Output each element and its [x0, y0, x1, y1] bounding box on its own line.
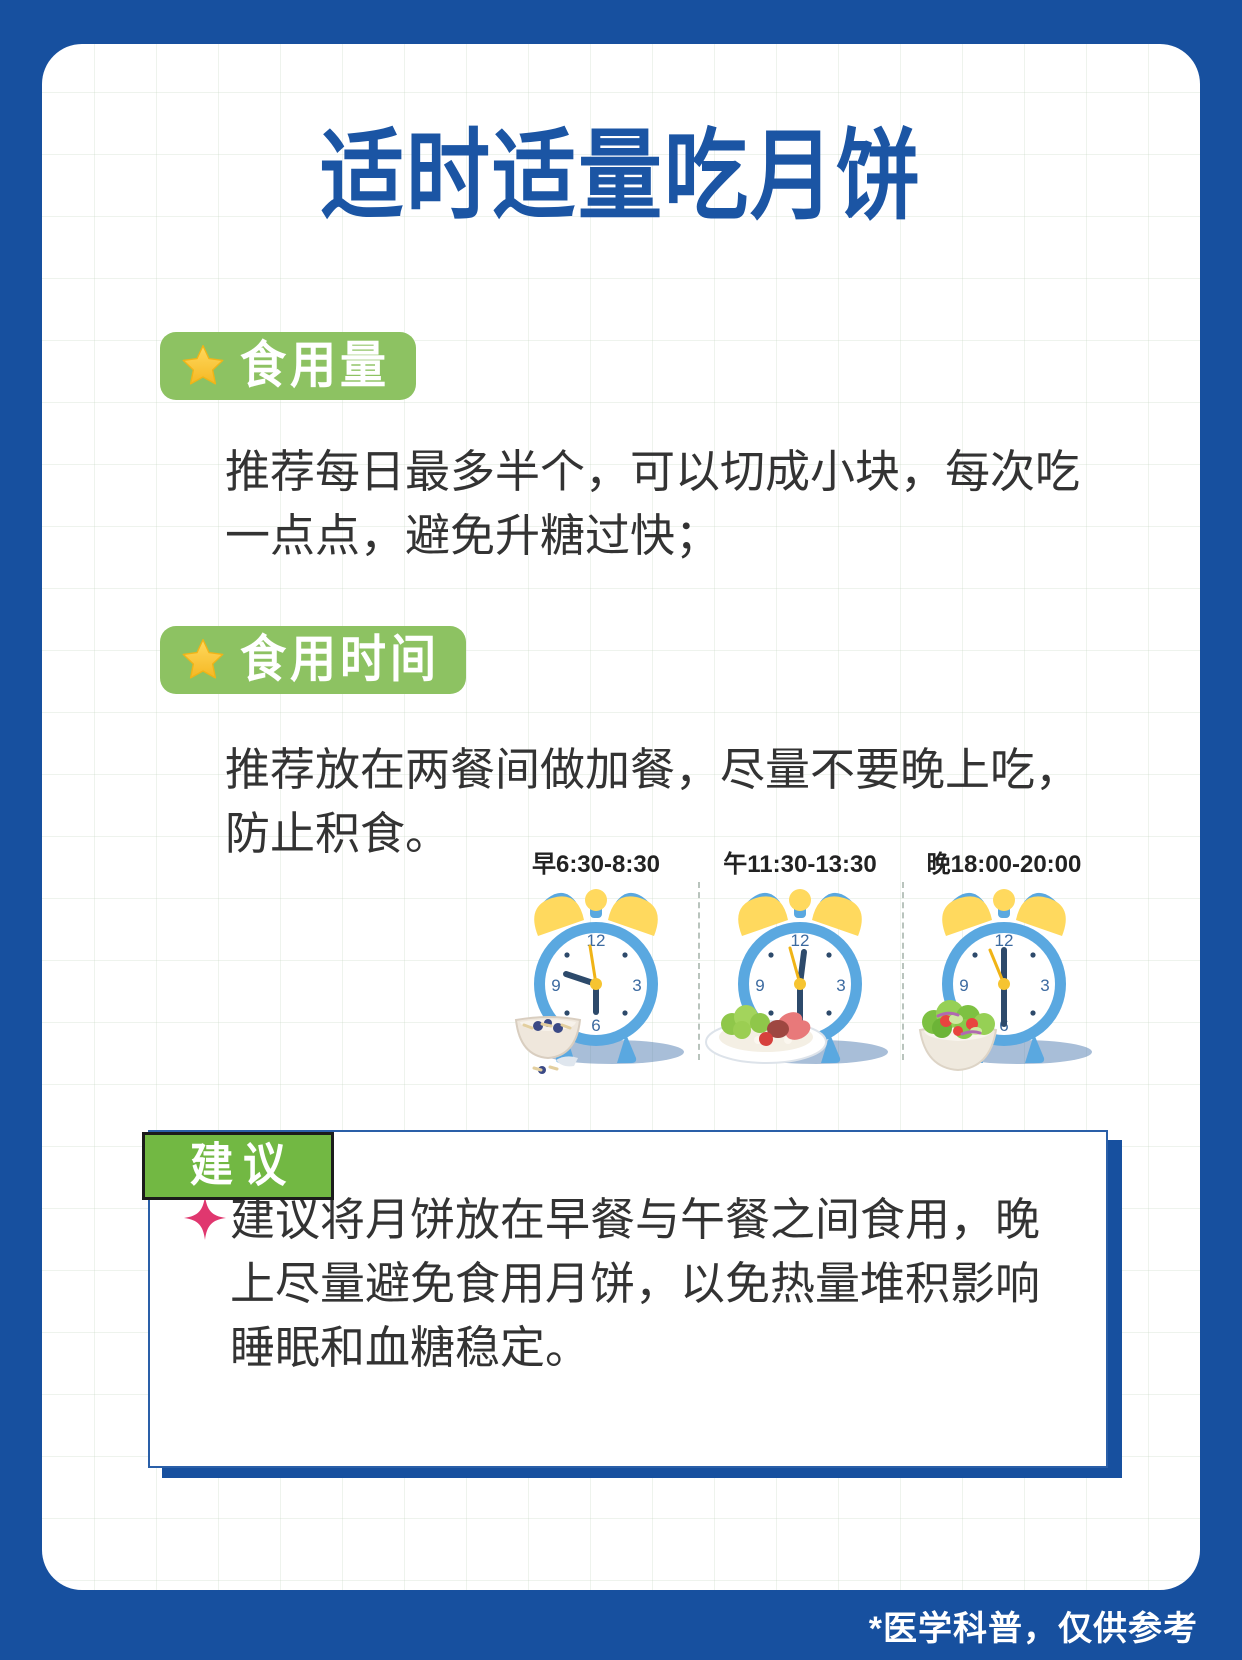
svg-text:9: 9 [959, 976, 968, 995]
section-body-amount: 推荐每日最多半个，可以切成小块，每次吃一点点，避免升糖过快； [225, 440, 1095, 568]
svg-text:12: 12 [791, 931, 810, 950]
section-badge-timing: 食用时间 [160, 626, 466, 694]
svg-text:6: 6 [591, 1016, 600, 1035]
meal-time-row: 早6:30-8:30 12 3 6 9 [494, 844, 1106, 1094]
alarm-clock-with-rice-plate-icon: 12 3 6 9 [698, 884, 902, 1084]
star-icon [180, 342, 226, 388]
meal-time-label: 早6:30-8:30 [494, 844, 698, 879]
svg-text:3: 3 [1040, 976, 1049, 995]
alarm-clock-with-salad-bowl-icon: 12 3 6 9 [902, 884, 1106, 1084]
meal-time-dinner: 晚18:00-20:00 12 3 6 9 [902, 844, 1106, 1094]
footer-note: *医学科普，仅供参考 [869, 1601, 1198, 1650]
poster-root: 适时适量吃月饼 食用量 推荐每日最多半个，可以切成小块，每次吃一点点，避免升糖过… [0, 0, 1242, 1660]
svg-text:9: 9 [551, 976, 560, 995]
svg-text:9: 9 [755, 976, 764, 995]
svg-text:3: 3 [836, 976, 845, 995]
section-badge-label: 食用量 [240, 340, 390, 391]
star-icon [180, 636, 226, 682]
meal-time-label: 午11:30-13:30 [698, 844, 902, 879]
meal-time-lunch: 午11:30-13:30 12 3 6 9 [698, 844, 902, 1094]
alarm-clock-with-cereal-bowl-icon: 12 3 6 9 [494, 884, 698, 1084]
page-title: 适时适量吃月饼 [42, 126, 1200, 225]
section-badge-amount: 食用量 [160, 332, 416, 400]
meal-time-breakfast: 早6:30-8:30 12 3 6 9 [494, 844, 698, 1094]
meal-time-label: 晚18:00-20:00 [902, 844, 1106, 879]
advice-tag: 建议 [142, 1132, 334, 1200]
four-point-star-icon [184, 1196, 226, 1240]
advice-tag-label: 建议 [180, 1143, 296, 1189]
poster-paper: 适时适量吃月饼 食用量 推荐每日最多半个，可以切成小块，每次吃一点点，避免升糖过… [42, 44, 1200, 1590]
section-badge-label: 食用时间 [240, 634, 440, 685]
advice-text: 建议将月饼放在早餐与午餐之间食用，晚上尽量避免食用月饼，以免热量堆积影响睡眠和血… [230, 1188, 1076, 1380]
svg-text:3: 3 [632, 976, 641, 995]
